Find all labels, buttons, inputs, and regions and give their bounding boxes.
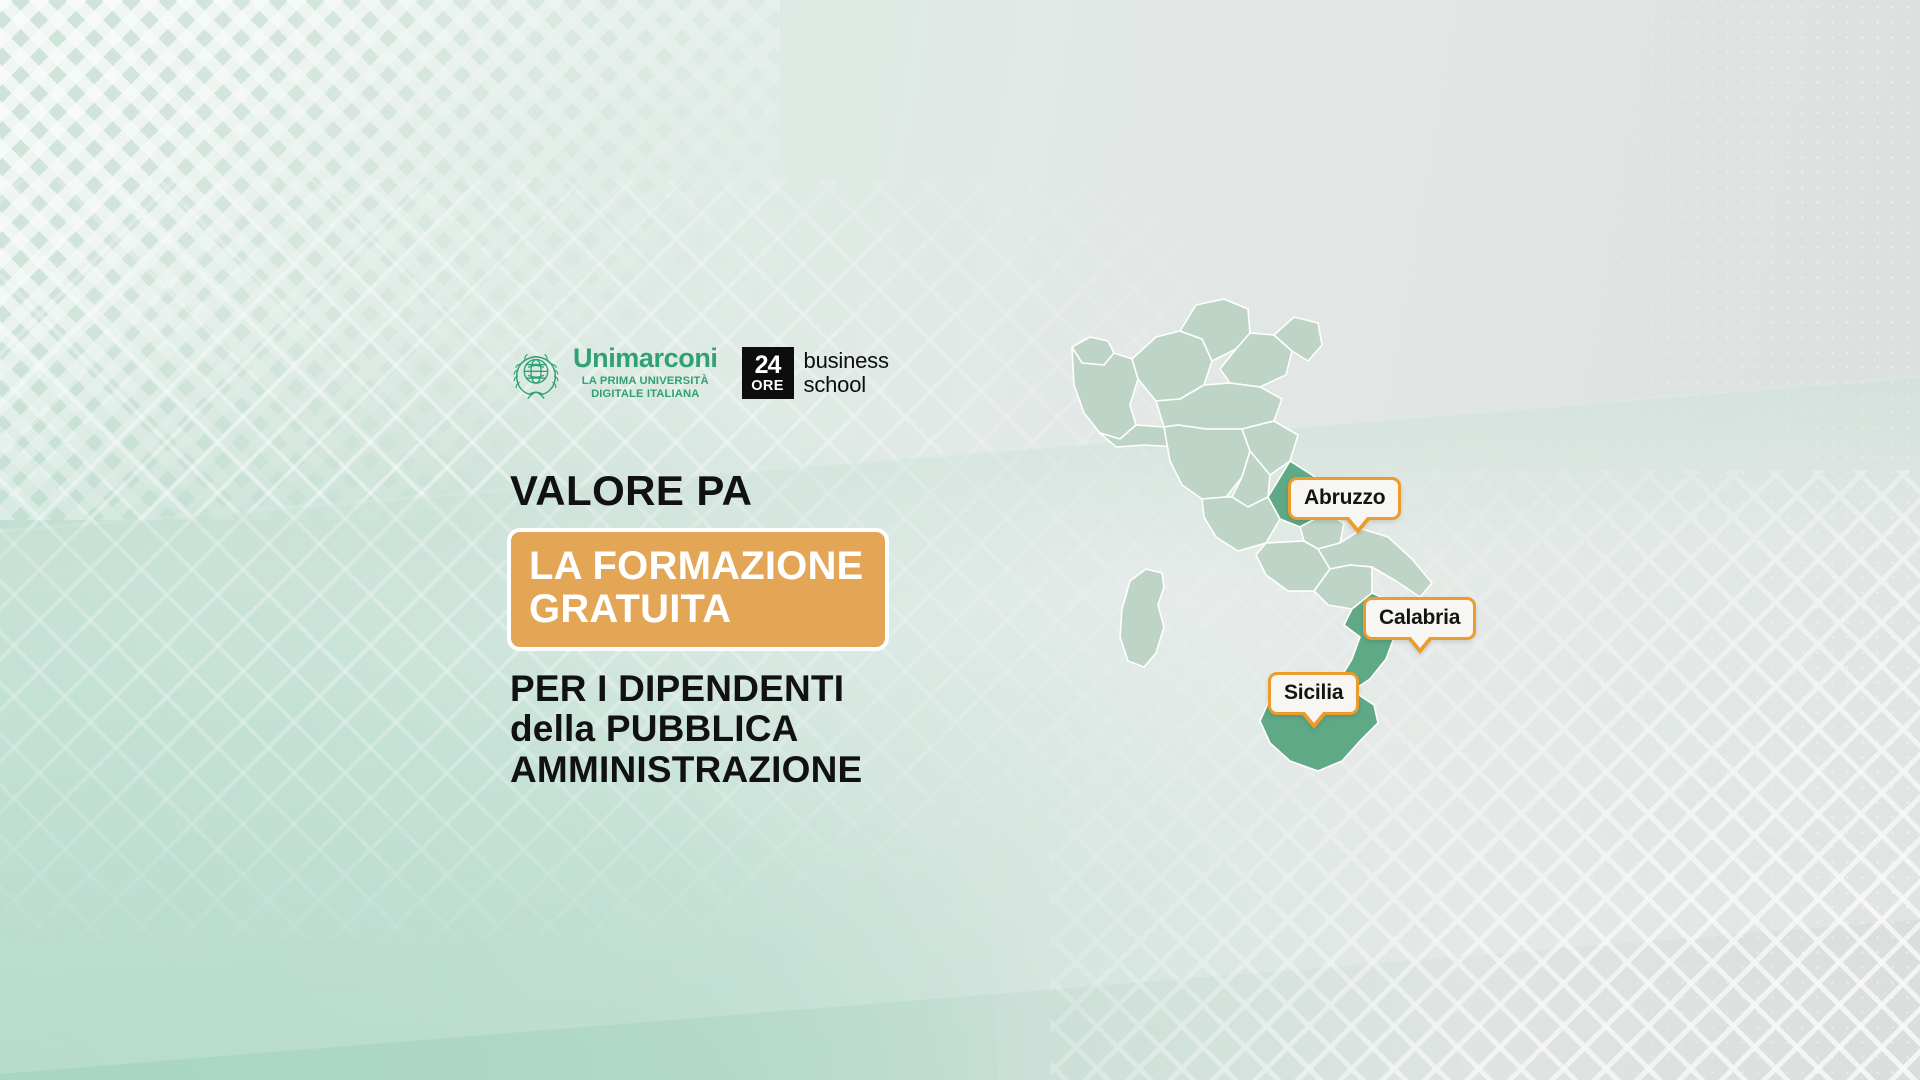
headline-badge-line1: LA FORMAZIONE (529, 545, 863, 588)
unimarconi-tagline: LA PRIMA UNIVERSITÀ DIGITALE ITALIANA (573, 375, 718, 401)
poster-canvas: Unimarconi LA PRIMA UNIVERSITÀ DIGITALE … (0, 0, 1920, 1080)
sole24ore-unit: ORE (751, 379, 784, 394)
unimarconi-wordmark: Unimarconi LA PRIMA UNIVERSITÀ DIGITALE … (573, 345, 718, 401)
business-school-line2: school (804, 373, 889, 398)
sole24ore-number: 24 (755, 353, 781, 378)
unimarconi-name: Unimarconi (573, 345, 718, 372)
business-school-line1: business (804, 349, 889, 374)
unimarconi-tagline-line2: DIGITALE ITALIANA (591, 388, 699, 400)
content-column: Unimarconi LA PRIMA UNIVERSITÀ DIGITALE … (0, 0, 1000, 1080)
map-callout-calabria[interactable]: Calabria (1363, 597, 1476, 640)
headline-badge-line2: GRATUITA (529, 588, 863, 631)
map-callout-abruzzo-label: Abruzzo (1304, 486, 1385, 510)
headline-tail-line2-strong: PUBBLICA (606, 708, 799, 749)
unimarconi-logo: Unimarconi LA PRIMA UNIVERSITÀ DIGITALE … (508, 345, 718, 401)
italy-regions-map (1060, 275, 1510, 835)
map-callout-calabria-label: Calabria (1379, 606, 1460, 630)
map-callout-abruzzo[interactable]: Abruzzo (1288, 477, 1401, 520)
headline-tail-line3: AMMINISTRAZIONE (510, 750, 980, 791)
logo-row: Unimarconi LA PRIMA UNIVERSITÀ DIGITALE … (508, 345, 889, 401)
map-callout-sicilia[interactable]: Sicilia (1268, 672, 1359, 715)
headline-tail: PER I DIPENDENTI della PUBBLICA AMMINIST… (510, 669, 980, 791)
unimarconi-tagline-line1: LA PRIMA UNIVERSITÀ (582, 375, 709, 387)
sole24ore-business-school-logo: 24 ORE business school (742, 347, 889, 399)
business-school-wordmark: business school (804, 349, 889, 398)
headline-tail-line1: PER I DIPENDENTI (510, 669, 980, 710)
headline-block: VALORE PA LA FORMAZIONE GRATUITA PER I D… (510, 470, 980, 791)
globe-laurel-wreath-emblem-icon (508, 345, 564, 401)
map-callout-sicilia-label: Sicilia (1284, 681, 1343, 705)
headline-eyebrow: VALORE PA (510, 470, 980, 512)
headline-tail-line2: della PUBBLICA (510, 709, 980, 750)
headline-tail-line2-lead: della (510, 708, 595, 749)
region-sardegna (1120, 569, 1164, 667)
sole24ore-mark: 24 ORE (742, 347, 794, 399)
headline-badge: LA FORMAZIONE GRATUITA (507, 528, 889, 651)
